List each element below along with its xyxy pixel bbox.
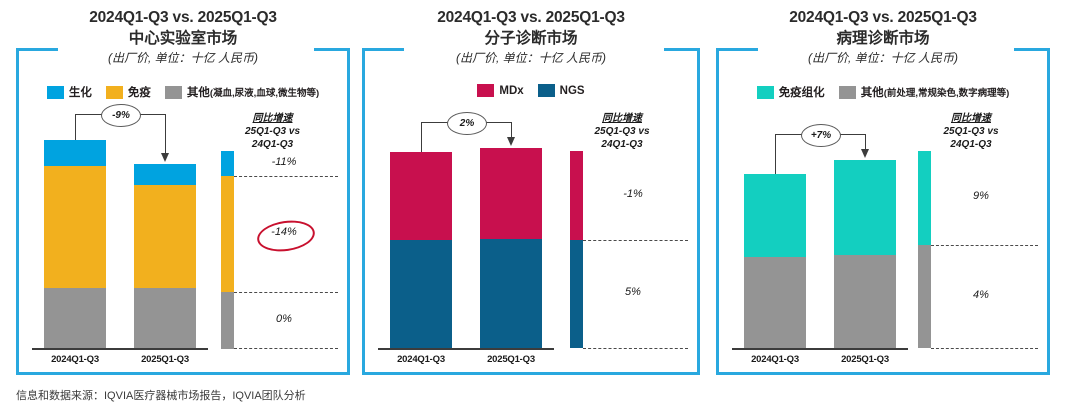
panel-title-line2: 中心实验室市场 xyxy=(16,28,350,49)
total-change-badge: +7% xyxy=(801,124,841,147)
total-change-badge: 2% xyxy=(447,112,487,135)
growth-header-line1: 同比增速 xyxy=(898,112,1044,125)
panel-subtitle: (出厂价, 单位：十亿 人民币) xyxy=(716,49,1050,68)
growth-minibar-免疫 xyxy=(221,176,234,292)
legend-label: 生化 xyxy=(69,84,92,100)
legend-item[interactable]: 免疫组化 xyxy=(757,84,825,100)
legend-label-main: 其他 xyxy=(187,87,210,99)
legend-swatch-icon xyxy=(47,86,64,99)
arrow-down-icon xyxy=(161,153,169,162)
legend-label: MDx xyxy=(499,85,523,97)
legend-swatch-icon xyxy=(477,84,494,97)
arrow-down-icon xyxy=(507,137,515,146)
growth-minibar-MDx xyxy=(570,151,583,240)
growth-minibar-生化 xyxy=(221,151,234,176)
legend-swatch-icon xyxy=(165,86,182,99)
panel-title-block: 2024Q1-Q3 vs. 2025Q1-Q3中心实验室市场(出厂价, 单位：十… xyxy=(16,8,350,68)
legend-label: 其他(前处理,常规染色,数字病理等) xyxy=(861,84,1010,100)
legend-label-main: MDx xyxy=(499,85,523,97)
panel-title-line1: 2024Q1-Q3 vs. 2025Q1-Q3 xyxy=(16,8,350,28)
source-note: 信息和数据来源：IQVIA医疗器械市场报告，IQVIA团队分析 xyxy=(16,387,306,403)
growth-minibar-NGS xyxy=(570,240,583,348)
growth-value-免疫: -14% xyxy=(251,226,317,238)
callout-line-left xyxy=(75,114,76,140)
growth-header-line1: 同比增速 xyxy=(550,112,694,125)
legend-swatch-icon xyxy=(106,86,123,99)
chart-legend: 生化免疫其他(凝血,尿液,血球,微生物等) xyxy=(16,84,350,100)
growth-header-line3: 24Q1-Q3 xyxy=(201,138,344,151)
growth-value-NGS: 5% xyxy=(600,286,666,298)
panel-title-line2: 病理诊断市场 xyxy=(716,28,1050,49)
legend-item[interactable]: NGS xyxy=(538,84,585,97)
growth-column-header: 同比增速25Q1-Q3 vs24Q1-Q3 xyxy=(550,112,694,151)
growth-divider xyxy=(583,348,688,349)
growth-divider xyxy=(931,348,1038,349)
panel-title-block: 2024Q1-Q3 vs. 2025Q1-Q3分子诊断市场(出厂价, 单位：十亿… xyxy=(362,8,700,68)
callout-line-left xyxy=(775,134,776,174)
legend-swatch-icon xyxy=(538,84,555,97)
growth-divider xyxy=(583,240,688,241)
legend-label: 免疫组化 xyxy=(779,84,825,100)
growth-value-MDx: -1% xyxy=(600,188,666,200)
chart-panel-central-lab: 2024Q1-Q3 vs. 2025Q1-Q3中心实验室市场(出厂价, 单位：十… xyxy=(16,0,350,385)
growth-divider xyxy=(931,245,1038,246)
callout-line-right xyxy=(511,122,512,138)
chart-legend: MDxNGS xyxy=(362,84,700,97)
legend-item[interactable]: 生化 xyxy=(47,84,92,100)
growth-value-免疫组化: 9% xyxy=(948,190,1014,202)
growth-minibar-免疫组化 xyxy=(918,151,931,245)
growth-divider xyxy=(234,348,338,349)
panel-subtitle: (出厂价, 单位：十亿 人民币) xyxy=(362,49,700,68)
growth-minibar-其他 xyxy=(918,245,931,348)
legend-label-sub: (前处理,常规染色,数字病理等) xyxy=(884,88,1010,99)
growth-minibar-其他 xyxy=(221,292,234,349)
legend-label-sub: (凝血,尿液,血球,微生物等) xyxy=(210,88,319,99)
callout-line-right xyxy=(165,114,166,154)
legend-label: 免疫 xyxy=(128,84,151,100)
growth-header-line2: 25Q1-Q3 vs xyxy=(898,125,1044,138)
growth-value-生化: -11% xyxy=(251,156,317,168)
legend-swatch-icon xyxy=(757,86,774,99)
growth-header-line2: 25Q1-Q3 vs xyxy=(550,125,694,138)
panel-subtitle: (出厂价, 单位：十亿 人民币) xyxy=(16,49,350,68)
legend-label: 其他(凝血,尿液,血球,微生物等) xyxy=(187,84,319,100)
panel-title-line2: 分子诊断市场 xyxy=(362,28,700,49)
legend-label-main: 其他 xyxy=(861,87,884,99)
callout-line-right xyxy=(865,134,866,150)
total-change-badge: -9% xyxy=(101,104,141,127)
growth-divider xyxy=(234,176,338,177)
chart-panel-pathology-dx: 2024Q1-Q3 vs. 2025Q1-Q3病理诊断市场(出厂价, 单位：十亿… xyxy=(716,0,1050,385)
panel-title-line1: 2024Q1-Q3 vs. 2025Q1-Q3 xyxy=(362,8,700,28)
growth-column-header: 同比增速25Q1-Q3 vs24Q1-Q3 xyxy=(898,112,1044,151)
growth-header-line1: 同比增速 xyxy=(201,112,344,125)
growth-header-line3: 24Q1-Q3 xyxy=(550,138,694,151)
growth-header-line3: 24Q1-Q3 xyxy=(898,138,1044,151)
legend-swatch-icon xyxy=(839,86,856,99)
panel-title-block: 2024Q1-Q3 vs. 2025Q1-Q3病理诊断市场(出厂价, 单位：十亿… xyxy=(716,8,1050,68)
legend-label-main: 生化 xyxy=(69,87,92,99)
legend-label-main: 免疫 xyxy=(128,87,151,99)
legend-label-main: NGS xyxy=(560,85,585,97)
legend-item[interactable]: 其他(前处理,常规染色,数字病理等) xyxy=(839,84,1010,100)
arrow-down-icon xyxy=(861,149,869,158)
legend-label: NGS xyxy=(560,85,585,97)
legend-item[interactable]: MDx xyxy=(477,84,523,97)
growth-header-line2: 25Q1-Q3 vs xyxy=(201,125,344,138)
panel-title-line1: 2024Q1-Q3 vs. 2025Q1-Q3 xyxy=(716,8,1050,28)
callout-line-left xyxy=(421,122,422,152)
chart-legend: 免疫组化其他(前处理,常规染色,数字病理等) xyxy=(716,84,1050,100)
legend-label-main: 免疫组化 xyxy=(779,87,825,99)
growth-value-其他: 4% xyxy=(948,289,1014,301)
legend-item[interactable]: 其他(凝血,尿液,血球,微生物等) xyxy=(165,84,319,100)
chart-panel-molecular-dx: 2024Q1-Q3 vs. 2025Q1-Q3分子诊断市场(出厂价, 单位：十亿… xyxy=(362,0,700,385)
growth-value-其他: 0% xyxy=(251,313,317,325)
legend-item[interactable]: 免疫 xyxy=(106,84,151,100)
growth-divider xyxy=(234,292,338,293)
growth-column-header: 同比增速25Q1-Q3 vs24Q1-Q3 xyxy=(201,112,344,151)
